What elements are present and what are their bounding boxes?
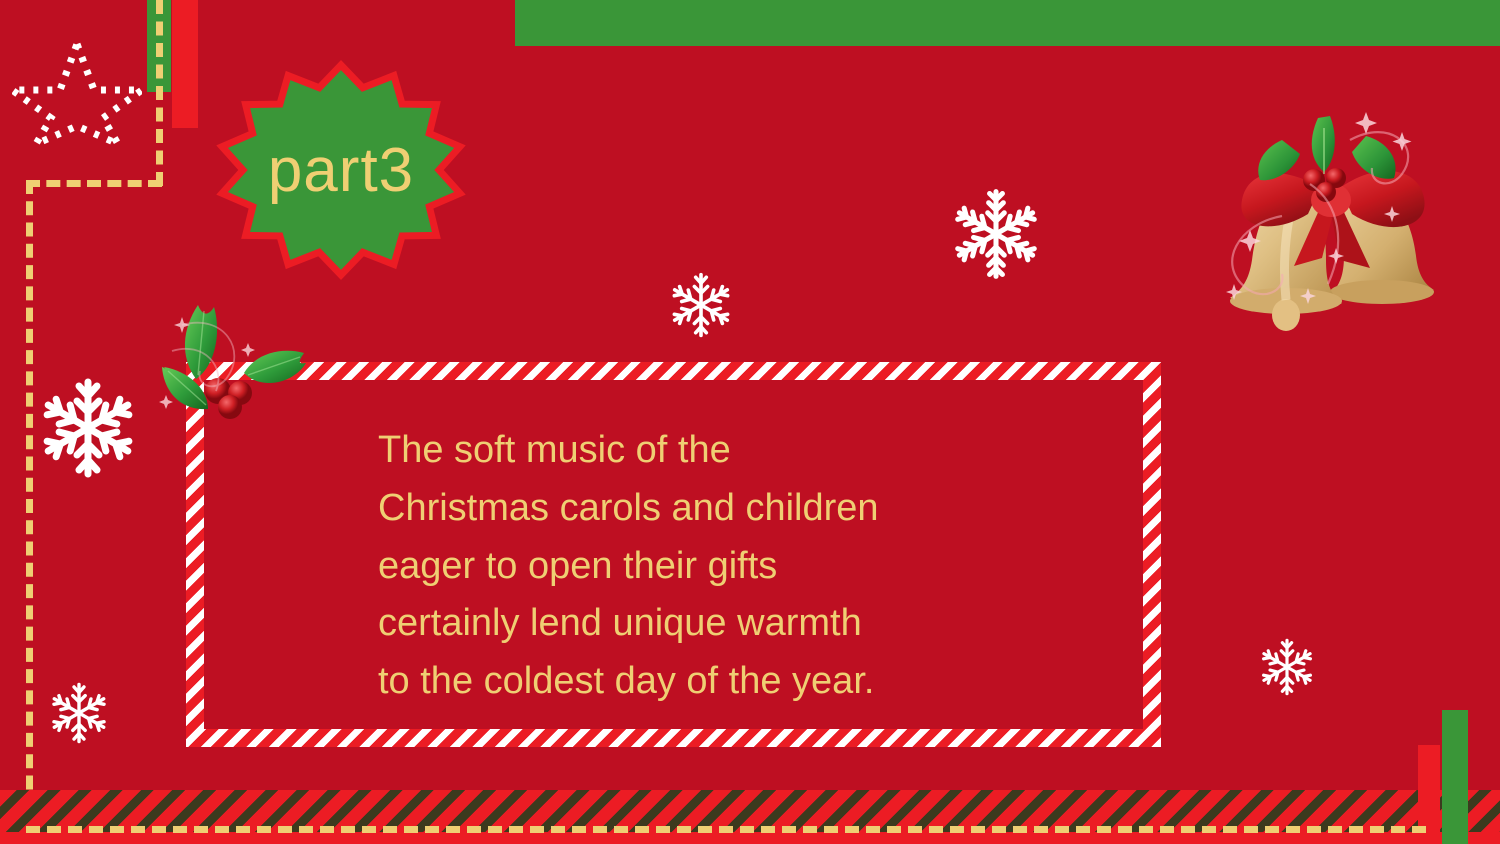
christmas-bells-icon [1190, 88, 1480, 338]
snowflake-small-center-icon [668, 272, 734, 338]
holly-sprig-icon [152, 295, 312, 425]
quote-text: The soft music of the Christmas carols a… [378, 422, 1103, 711]
dashed-path-horizontal-bottom [26, 826, 1426, 833]
bottom-right-green-bar [1442, 710, 1468, 844]
bottom-red-base [0, 832, 1500, 844]
top-green-bar [515, 0, 1500, 46]
snowflake-small-right-icon [1258, 638, 1316, 696]
quote-text-box-inner: The soft music of the Christmas carols a… [204, 380, 1143, 729]
snowflake-large-left-icon [38, 378, 138, 478]
dashed-path-vertical-top [156, 0, 163, 186]
dashed-path-horizontal-top [26, 180, 162, 187]
snowflake-small-bottom-left-icon [48, 682, 110, 744]
christmas-slide: part3 [0, 0, 1500, 844]
dashed-path-vertical-left [26, 180, 33, 832]
snowflake-medium-top-icon [950, 188, 1042, 280]
dotted-star-icon [12, 38, 142, 148]
top-left-red-bar [172, 0, 198, 128]
quote-text-box: The soft music of the Christmas carols a… [186, 362, 1161, 747]
starburst-badge [196, 48, 486, 293]
